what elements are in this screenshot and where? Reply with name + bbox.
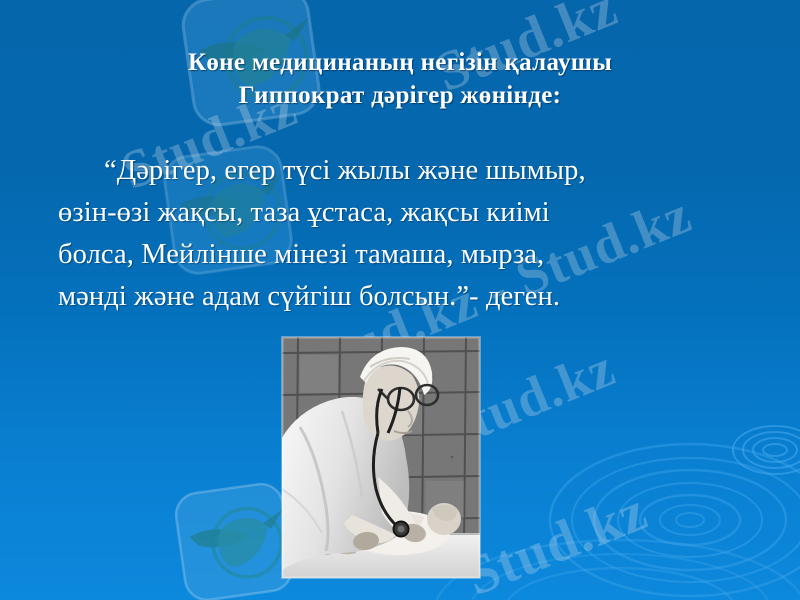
ripple-decoration-large — [540, 400, 800, 600]
slide-title: Көне медицинаның негізін қалаушы Гиппокр… — [0, 46, 800, 112]
presentation-slide: Stud.kz Stud.kz Stud.kz - Stud.kz Stud.k… — [0, 0, 800, 600]
quote-line-1: “Дәрігер, егер түсі жылы және шымыр, — [58, 150, 748, 192]
doctor-examining-infant-photo — [282, 337, 480, 578]
quote-line-4: мәнді және адам сүйгіш болсын.”- деген. — [58, 276, 748, 318]
site-watermark-bottom: Stud.kz — [457, 479, 656, 600]
title-line-1: Көне медицинаның негізін қалаушы — [0, 46, 800, 79]
ripple-decoration-bottom — [430, 520, 800, 600]
quote-line-3: болса, Мейлінше мінезі тамаша, мырза, — [58, 234, 748, 276]
title-line-2: Гиппократ дәрігер жөнінде: — [0, 79, 800, 112]
ripple-decoration-small — [730, 415, 800, 485]
quote-body: “Дәрігер, егер түсі жылы және шымыр, өзі… — [58, 150, 748, 318]
quote-line-2: өзін-өзі жақсы, таза ұстаса, жақсы киімі — [58, 192, 748, 234]
